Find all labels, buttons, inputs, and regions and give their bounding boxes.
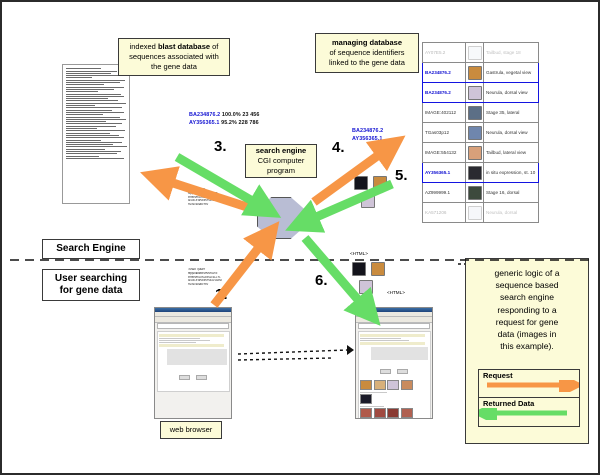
- description-line-3: search engine: [500, 292, 554, 302]
- image-result-thumbs-lower: [352, 260, 385, 296]
- browser-result-image[interactable]: [387, 380, 399, 390]
- result-thumb: [373, 176, 387, 190]
- step-label-3: 3.: [214, 138, 227, 155]
- web-browser-label: web browser: [170, 425, 213, 435]
- browser-address-bar[interactable]: [358, 323, 430, 329]
- result-thumb: [359, 280, 373, 294]
- browser-address-bar[interactable]: [157, 323, 229, 329]
- db-row-description: in situ expression, st. 10: [484, 163, 539, 183]
- table-row[interactable]: BA234876.2Gastrula, vegetal view: [423, 63, 539, 83]
- blast-hit-length: 456: [250, 112, 259, 118]
- browser-page-content: [157, 331, 230, 392]
- browser-toolbar: [155, 317, 231, 323]
- db-row-identifier: AY07E5.2: [423, 43, 466, 63]
- browser-form-button[interactable]: [380, 369, 391, 374]
- db-table: AY07E5.2Tailbud, stage 18BA234876.2Gastr…: [422, 42, 539, 223]
- search-engine-line2: CGI computer: [258, 156, 305, 165]
- db-row-thumbnail: [468, 126, 482, 140]
- managing-callout-line3: linked to the gene data: [329, 58, 405, 67]
- browser-result-image[interactable]: [360, 408, 372, 418]
- db-row-thumbnail-cell[interactable]: [466, 123, 484, 143]
- zone-lower-text-1: User searching: [55, 273, 127, 284]
- db-row-identifier: TGas03p12: [423, 123, 466, 143]
- description-line-7: this example).: [500, 341, 554, 351]
- browser-form-button[interactable]: [196, 375, 207, 380]
- search-engine-line3: program: [267, 166, 295, 175]
- step-label-2: 2.: [154, 170, 167, 187]
- query-sequence-text-upper: <USER QUERY MQQGKBRRRKVMVNTHVCF NYMKSMVL…: [188, 188, 252, 207]
- html-tag-top: <HTML>: [350, 251, 368, 256]
- description-line-1: generic logic of a: [495, 268, 560, 278]
- managing-database-table: AY07E5.2Tailbud, stage 18BA234876.2Gastr…: [422, 42, 539, 223]
- db-row-thumbnail-cell[interactable]: [466, 203, 484, 223]
- description-line-4: responding to a: [497, 305, 556, 315]
- db-row-identifier: IMAGE:554132: [423, 143, 466, 163]
- browser-page-content: [358, 331, 431, 419]
- browser-result-image[interactable]: [374, 408, 386, 418]
- table-row[interactable]: TGas03p12Neurula, dorsal view: [423, 123, 539, 143]
- search-engine-line1: search engine: [256, 146, 306, 155]
- db-row-thumbnail: [468, 86, 482, 100]
- browser-result-image[interactable]: [401, 380, 413, 390]
- blast-callout-line2: sequences associated with: [129, 52, 219, 61]
- step-label-5: 5.: [395, 167, 408, 184]
- table-row[interactable]: AY356365.1in situ expression, st. 10: [423, 163, 539, 183]
- description-panel: generic logic of a sequence based search…: [465, 258, 589, 444]
- browser-image-result-row: [360, 380, 428, 390]
- table-row[interactable]: KA571206Neurula, dorsal: [423, 203, 539, 223]
- db-row-description: Stage 35, lateral: [484, 103, 539, 123]
- description-line-2: sequence based: [495, 280, 558, 290]
- db-row-thumbnail: [468, 186, 482, 200]
- html-tag-bottom: <HTML>: [387, 290, 405, 295]
- db-row-thumbnail-cell[interactable]: [466, 183, 484, 203]
- db-row-description: Neurula, dorsal: [484, 203, 539, 223]
- browser-result-image[interactable]: [374, 380, 386, 390]
- blast-hit-row: AY356365.1 95.2% 228 786: [189, 119, 260, 127]
- browser-image-result-row: [360, 408, 428, 418]
- search-engine-octagon: [257, 197, 305, 239]
- blast-hit-identity: 95.2%: [221, 120, 237, 126]
- db-table-body: AY07E5.2Tailbud, stage 18BA234876.2Gastr…: [423, 43, 539, 223]
- table-row[interactable]: AZ999999.1Stage 16, dorsal: [423, 183, 539, 203]
- zone-lower-text-2: for gene data: [60, 285, 123, 296]
- table-row[interactable]: IMAGE:402112Stage 35, lateral: [423, 103, 539, 123]
- db-row-identifier: AZ999999.1: [423, 183, 466, 203]
- db-row-thumbnail: [468, 146, 482, 160]
- browser-result-image[interactable]: [360, 394, 372, 404]
- legend-returned-arrow: [479, 408, 579, 420]
- db-row-identifier: BA234876.2: [423, 83, 466, 103]
- result-thumb: [354, 176, 368, 190]
- db-row-description: Neurula, dorsal view: [484, 83, 539, 103]
- legend-returned-label: Returned Data: [479, 398, 579, 408]
- db-row-thumbnail: [468, 46, 482, 60]
- db-row-thumbnail: [468, 206, 482, 220]
- db-row-identifier: AY356365.1: [423, 163, 466, 183]
- zone-label-user-searching: User searching for gene data: [42, 269, 140, 301]
- blast-callout-line1-tail: of: [210, 42, 218, 51]
- result-thumb: [352, 262, 366, 276]
- web-browser-request-window[interactable]: [154, 307, 232, 419]
- browser-result-image[interactable]: [401, 408, 413, 418]
- browser-result-image[interactable]: [360, 380, 372, 390]
- db-row-thumbnail-cell[interactable]: [466, 63, 484, 83]
- returned-id: BA234876.2: [352, 127, 383, 135]
- db-row-identifier: KA571206: [423, 203, 466, 223]
- table-row[interactable]: BA234876.2Neurula, dorsal view: [423, 83, 539, 103]
- db-row-thumbnail: [468, 166, 482, 180]
- browser-toolbar: [356, 317, 432, 323]
- blast-hit-score: 23: [242, 112, 248, 118]
- zone-upper-text: Search Engine: [56, 243, 125, 255]
- web-browser-response-window[interactable]: [355, 307, 433, 419]
- image-result-thumbs-upper: [354, 174, 387, 210]
- blast-hit-row: BA234876.2 100.0% 23 456: [189, 111, 260, 119]
- blast-hit-id: AY356365.1: [189, 120, 219, 126]
- result-thumb: [371, 262, 385, 276]
- returned-id: AY356365.1: [352, 135, 383, 143]
- callout-managing-database: managing database of sequence identifier…: [315, 33, 419, 73]
- managing-callout-line2: of sequence identifiers: [329, 48, 404, 57]
- step-label-4: 4.: [332, 139, 345, 156]
- table-row[interactable]: AY07E5.2Tailbud, stage 18: [423, 43, 539, 63]
- zone-label-search-engine: Search Engine: [42, 239, 140, 259]
- db-row-description: Tailbud, lateral view: [484, 143, 539, 163]
- blast-database-document: [62, 64, 130, 204]
- managing-callout-line1: managing database: [332, 38, 402, 47]
- step-label-1: 1.: [215, 286, 228, 303]
- browser-connector: [238, 350, 347, 354]
- db-row-description: Stage 16, dorsal: [484, 183, 539, 203]
- browser-connector-lower: [238, 358, 332, 360]
- browser-image-result-row: [360, 394, 428, 404]
- db-row-thumbnail-cell[interactable]: [466, 163, 484, 183]
- blast-callout-line3: the gene data: [151, 62, 197, 71]
- callout-search-engine: search engine CGI computer program: [245, 144, 317, 178]
- description-text: generic logic of a sequence based search…: [466, 259, 588, 352]
- legend-returned-data: Returned Data: [478, 397, 580, 427]
- browser-connector-arrowhead: [347, 345, 354, 355]
- db-row-identifier: IMAGE:402112: [423, 103, 466, 123]
- blast-callout-line1-bold: blast database: [158, 42, 210, 51]
- db-row-thumbnail: [468, 106, 482, 120]
- blast-hit-id: BA234876.2: [189, 112, 220, 118]
- query-sequence-text-lower: <USER QUERY MQQGKBRRRKVMVNTHVCF NYMKSMVL…: [188, 268, 252, 287]
- blast-hit-length: 786: [249, 120, 258, 126]
- db-row-thumbnail-cell[interactable]: [466, 43, 484, 63]
- db-row-thumbnail-cell[interactable]: [466, 143, 484, 163]
- description-line-5: request for gene: [496, 317, 559, 327]
- db-row-thumbnail-cell[interactable]: [466, 83, 484, 103]
- diagram-canvas: indexed blast database of sequences asso…: [0, 0, 600, 475]
- db-row-identifier: BA234876.2: [423, 63, 466, 83]
- db-row-thumbnail: [468, 66, 482, 80]
- description-line-6: data (images in: [498, 329, 557, 339]
- db-row-description: Neurula, dorsal view: [484, 123, 539, 143]
- callout-blast-database: indexed blast database of sequences asso…: [118, 38, 230, 76]
- browser-form-button[interactable]: [397, 369, 408, 374]
- callout-web-browser: web browser: [160, 421, 222, 439]
- db-row-description: Tailbud, stage 18: [484, 43, 539, 63]
- blast-hit-identity: 100.0%: [222, 112, 241, 118]
- step-label-6: 6.: [315, 272, 328, 289]
- blast-callout-line1-a: indexed: [130, 42, 158, 51]
- db-row-description: Gastrula, vegetal view: [484, 63, 539, 83]
- blast-hit-score: 228: [239, 120, 248, 126]
- result-thumb: [361, 194, 375, 208]
- db-row-thumbnail-cell[interactable]: [466, 103, 484, 123]
- browser-form-button[interactable]: [179, 375, 190, 380]
- table-row[interactable]: IMAGE:554132Tailbud, lateral view: [423, 143, 539, 163]
- legend-request-arrow: [479, 380, 579, 392]
- legend-request: Request: [478, 369, 580, 399]
- blast-hit-list: BA234876.2 100.0% 23 456 AY356365.1 95.2…: [189, 111, 260, 128]
- browser-result-image[interactable]: [387, 408, 399, 418]
- legend-request-label: Request: [479, 370, 579, 380]
- returned-identifier-list: BA234876.2 AY356365.1: [352, 127, 383, 144]
